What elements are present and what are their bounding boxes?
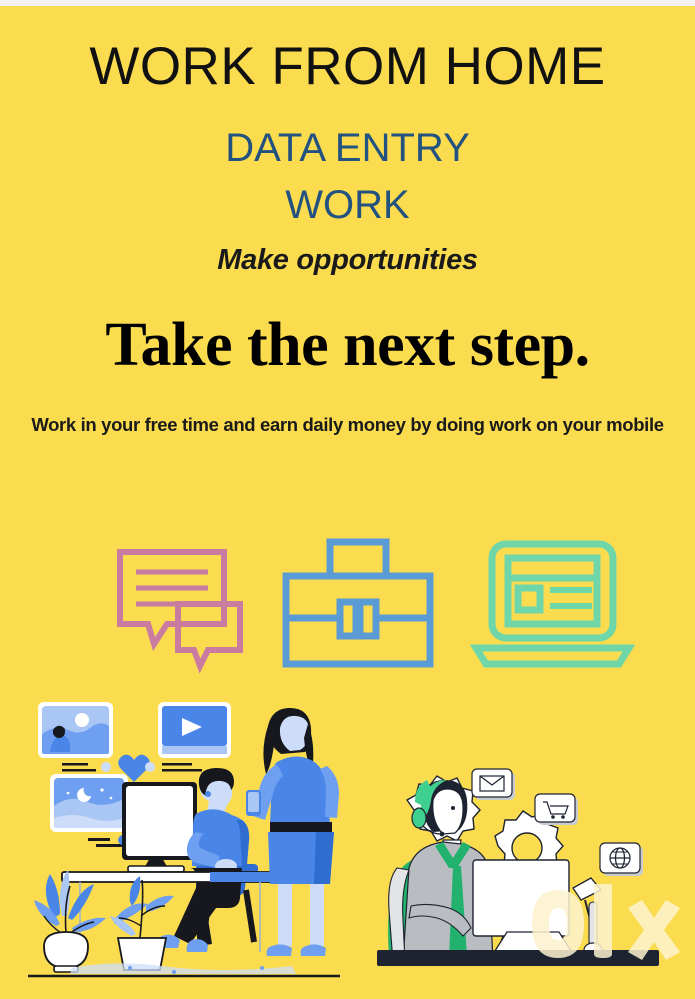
tagline: Make opportunities (0, 244, 695, 277)
envelope-card-icon (472, 769, 515, 800)
page-title: WORK FROM HOME (0, 38, 695, 95)
top-edge-strip (0, 0, 695, 6)
desktop-monitor (122, 782, 197, 872)
desk-lamp (573, 878, 602, 957)
photo-card-sun (38, 702, 113, 772)
subtitle-line-2: WORK (0, 177, 695, 234)
body-copy: Work in your free time and earn daily mo… (30, 410, 665, 440)
laptop-icon (470, 532, 635, 677)
poster-canvas: WORK FROM HOME DATA ENTRY WORK Make oppo… (0, 0, 695, 999)
round-vase-plant (34, 870, 106, 972)
feature-icon-row (0, 532, 695, 677)
shopping-cart-card-icon (535, 794, 578, 825)
globe-card-icon (600, 843, 643, 876)
subtitle-line-1: DATA ENTRY (0, 120, 695, 177)
headline: Take the next step. (0, 310, 695, 381)
illustration-support-agent (365, 760, 695, 985)
briefcase-icon (278, 532, 438, 677)
video-card-play (145, 702, 231, 772)
subtitle-block: DATA ENTRY WORK (0, 120, 695, 234)
photo-card-night (50, 774, 128, 847)
illustration-remote-work-desk (10, 690, 355, 990)
tapered-pot-plant (110, 876, 174, 970)
chat-bubbles-icon (112, 532, 247, 677)
desk-bar (377, 950, 659, 966)
